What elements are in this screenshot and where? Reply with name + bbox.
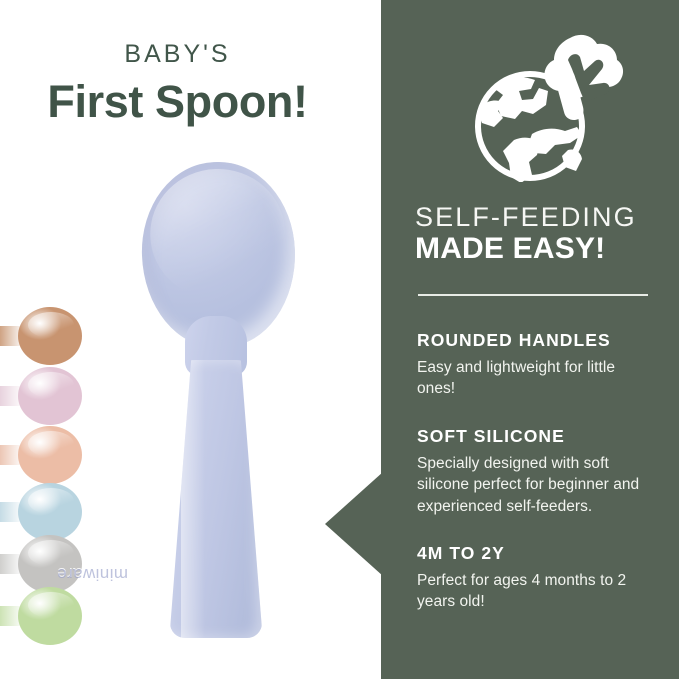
swatch-spoon-bowl [18, 587, 82, 645]
headline-block: BABY'S First Spoon! [0, 42, 355, 125]
feature-title: ROUNDED HANDLES [417, 330, 655, 351]
feature-body: Perfect for ages 4 months to 2 years old… [417, 570, 655, 613]
globe-tree-icon [462, 22, 628, 182]
swatch-spoon-highlight [28, 540, 74, 566]
color-swatch-spoon [0, 426, 82, 484]
left-product-panel: BABY'S First Spoon! miniware [0, 0, 381, 679]
feature-body: Specially designed with soft silicone pe… [417, 453, 655, 517]
feature-body: Easy and lightweight for little ones! [417, 357, 655, 400]
swatch-spoon-highlight [28, 312, 74, 338]
product-marketing-image: BABY'S First Spoon! miniware [0, 0, 679, 679]
heading-line-2: MADE EASY! [415, 232, 665, 266]
swatch-spoon-highlight [28, 592, 74, 618]
swatch-spoon-bowl [18, 483, 82, 541]
color-swatch-spoon [0, 587, 82, 645]
heading-line-1: SELF-FEEDING [415, 203, 665, 232]
swatch-spoon-bowl [18, 426, 82, 484]
feature-title: 4M TO 2Y [417, 543, 655, 564]
headline-main: First Spoon! [0, 78, 355, 125]
feature-title: SOFT SILICONE [417, 426, 655, 447]
feature-item: SOFT SILICONE Specially designed with so… [417, 426, 655, 517]
panel-heading: SELF-FEEDING MADE EASY! [415, 203, 665, 266]
spoon-handle [170, 360, 262, 638]
swatch-spoon-highlight [28, 372, 74, 398]
swatch-spoon-bowl [18, 535, 82, 593]
hero-spoon-image [128, 160, 310, 650]
color-swatch-spoon [0, 307, 82, 365]
swatch-spoon-bowl [18, 367, 82, 425]
feature-item: 4M TO 2Y Perfect for ages 4 months to 2 … [417, 543, 655, 613]
headline-kicker: BABY'S [0, 42, 355, 67]
swatch-spoon-bowl [18, 307, 82, 365]
color-swatch-spoon [0, 535, 82, 593]
heading-divider-rule [418, 294, 648, 296]
swatch-spoon-highlight [28, 431, 74, 457]
color-swatch-spoon [0, 483, 82, 541]
feature-item: ROUNDED HANDLES Easy and lightweight for… [417, 330, 655, 400]
swatch-spoon-highlight [28, 488, 74, 514]
color-swatch-spoon [0, 367, 82, 425]
feature-list: ROUNDED HANDLES Easy and lightweight for… [417, 330, 655, 613]
